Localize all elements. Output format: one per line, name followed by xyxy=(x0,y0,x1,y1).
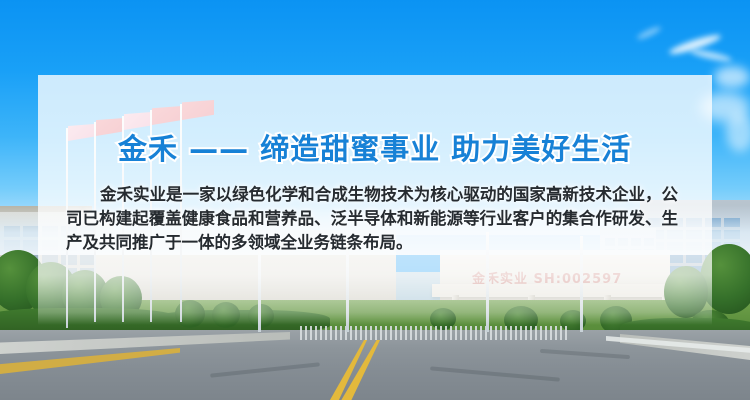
cloud-wisp xyxy=(726,112,750,152)
cloud-wisp xyxy=(714,66,750,88)
banner-image: 金禾实业 SH:002597 CO., LTD. xyxy=(0,0,750,400)
page-title: 金禾 —— 缔造甜蜜事业 助力美好生活 xyxy=(118,126,631,168)
retractable-gate xyxy=(300,326,570,340)
company-description: 金禾实业是一家以绿色化学和合成生物技术为核心驱动的国家高新技术企业，公司已构建起… xyxy=(66,183,678,255)
